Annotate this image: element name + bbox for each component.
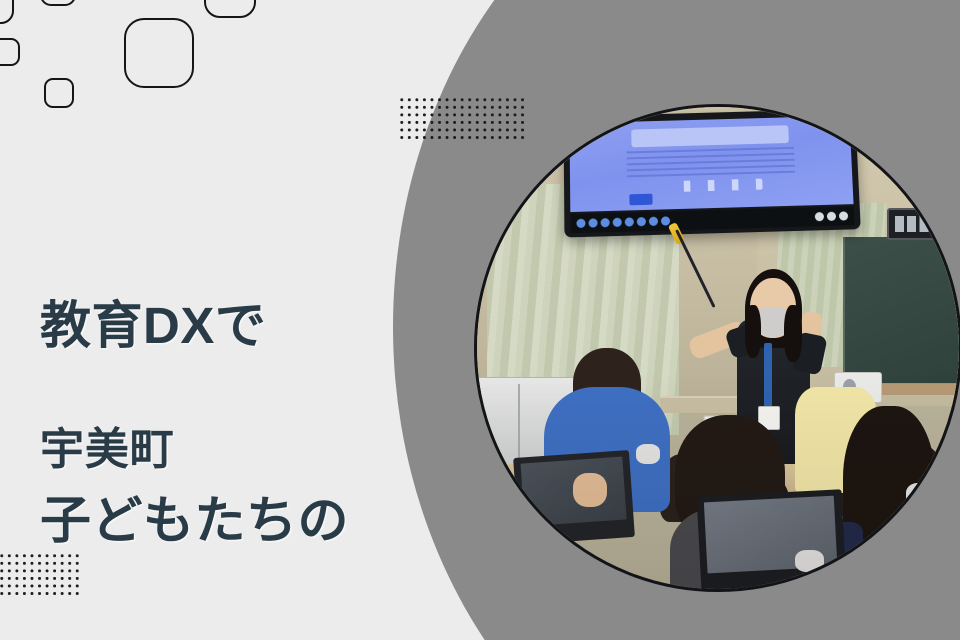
taskbar-tray-icon bbox=[826, 211, 835, 220]
student-hand bbox=[573, 473, 607, 507]
digital-clock bbox=[887, 208, 940, 239]
classroom-photo-scene bbox=[477, 107, 959, 589]
slide-choice-row bbox=[666, 178, 762, 191]
taskbar-app-icon bbox=[613, 217, 622, 226]
taskbar-app-icon bbox=[625, 217, 634, 226]
taskbar-app-icon bbox=[589, 218, 598, 227]
slide-title-card bbox=[631, 125, 788, 147]
taskbar-app-icon bbox=[577, 218, 586, 227]
municipality-name: 宇美町 bbox=[40, 424, 175, 477]
slide-submit-button bbox=[630, 194, 653, 205]
whiteboard-screen bbox=[570, 116, 853, 213]
blackboard bbox=[843, 237, 959, 386]
slide-text-lines bbox=[626, 146, 795, 177]
student-laptop bbox=[696, 489, 845, 589]
taskbar-app-icon bbox=[649, 216, 658, 225]
page-title-line-1: 教育DXで bbox=[40, 293, 401, 358]
taskbar-tray-icon bbox=[838, 211, 847, 220]
page-title-line-2: 子どもたちの bbox=[40, 488, 401, 553]
page-title: 教育DXで 子どもたちの 未来をつくろう bbox=[40, 162, 401, 640]
rounded-square-icon bbox=[44, 78, 74, 108]
rounded-square-icon bbox=[40, 0, 76, 6]
face-mask bbox=[906, 483, 935, 507]
rounded-square-icon bbox=[204, 0, 256, 18]
teacher-hair-side bbox=[784, 305, 802, 363]
teacher-lanyard bbox=[764, 343, 773, 410]
taskbar-app-icon bbox=[661, 216, 670, 225]
rounded-square-icon bbox=[0, 0, 14, 24]
rounded-square-icon bbox=[124, 18, 194, 88]
poster-canvas: 教育DXで 子どもたちの 未来をつくろう 宇美町 bbox=[0, 0, 960, 640]
rounded-square-icon bbox=[0, 38, 20, 66]
teacher-hair-side bbox=[745, 305, 761, 358]
face-mask bbox=[795, 550, 824, 572]
taskbar-tray-icon bbox=[814, 212, 823, 221]
face-mask bbox=[636, 444, 660, 463]
taskbar-app-icon bbox=[637, 217, 646, 226]
interactive-whiteboard bbox=[563, 108, 860, 236]
taskbar-spacer bbox=[673, 216, 811, 220]
classroom-photo bbox=[474, 104, 960, 592]
taskbar-app-icon bbox=[601, 218, 610, 227]
